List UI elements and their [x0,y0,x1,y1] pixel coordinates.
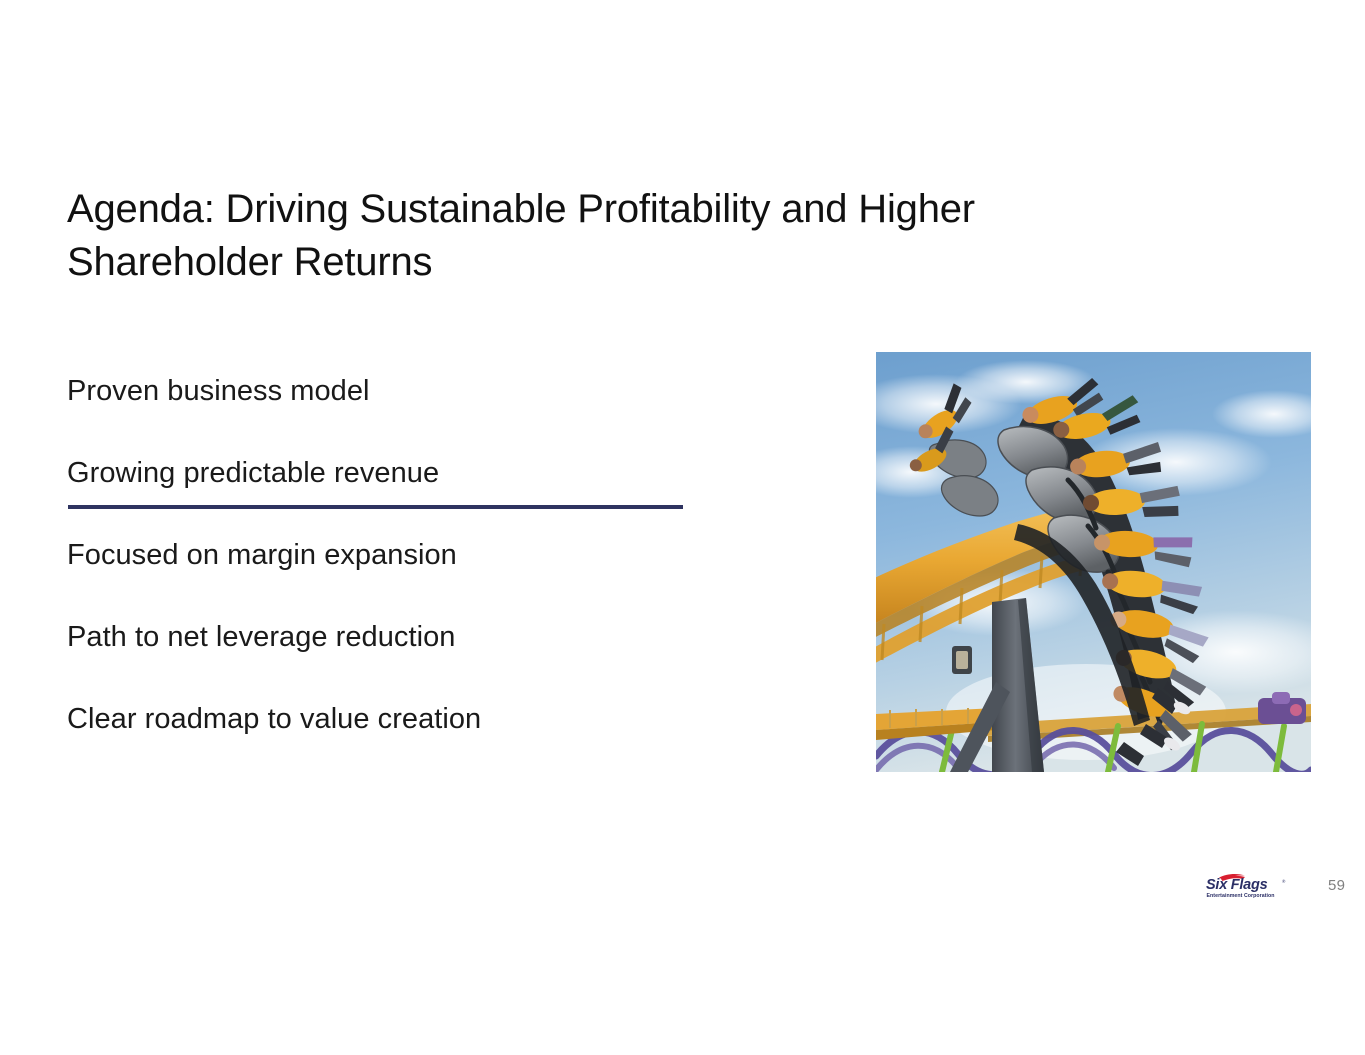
agenda-item-label: Focused on margin expansion [67,538,457,572]
agenda-item-focused-on-margin-expansion[interactable]: Focused on margin expansion [67,538,707,620]
roller-coaster-photo [876,352,1311,772]
active-item-underline [68,505,683,509]
agenda-item-label: Path to net leverage reduction [67,620,455,654]
slide-canvas: Agenda: Driving Sustainable Profitabilit… [0,0,1365,1055]
agenda-item-label: Growing predictable revenue [67,456,439,490]
svg-text:Six Flags: Six Flags [1206,877,1268,893]
agenda-list: Proven business model Growing predictabl… [67,374,707,784]
agenda-item-clear-roadmap-to-value-creation[interactable]: Clear roadmap to value creation [67,702,707,784]
agenda-item-growing-predictable-revenue[interactable]: Growing predictable revenue [67,456,707,538]
roller-coaster-illustration [876,352,1311,772]
six-flags-logo: Six Flags ® Entertainment Corporation [1206,873,1310,900]
six-flags-logo-mark: Six Flags ® Entertainment Corporation [1206,873,1310,900]
agenda-item-proven-business-model[interactable]: Proven business model [67,374,707,456]
page-title: Agenda: Driving Sustainable Profitabilit… [67,183,1197,289]
svg-text:Entertainment Corporation: Entertainment Corporation [1207,893,1275,899]
agenda-item-label: Clear roadmap to value creation [67,702,481,736]
svg-text:®: ® [1282,878,1286,884]
page-number: 59 [1328,876,1345,896]
agenda-item-path-to-net-leverage-reduction[interactable]: Path to net leverage reduction [67,620,707,702]
agenda-item-label: Proven business model [67,374,370,408]
